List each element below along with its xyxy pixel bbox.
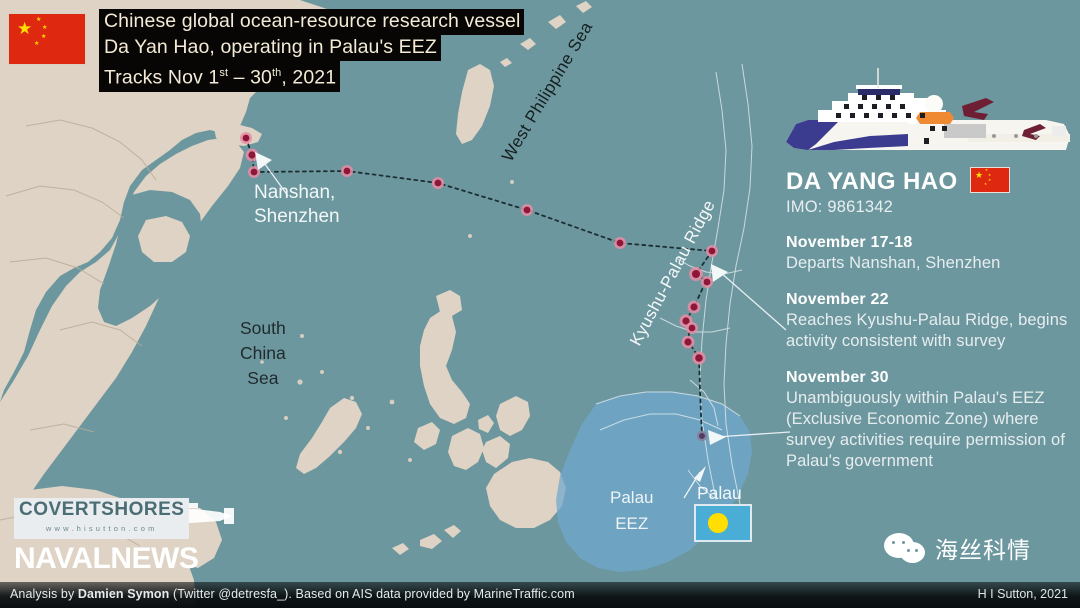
event-description: Unambiguously within Palau's EEZ (Exclus… [786, 388, 1076, 472]
event-nov-30: November 30 Unambiguously within Palau's… [786, 369, 1076, 472]
vessel-name-row: DA YANG HAO ★ ★ ★ ★ ★ [786, 168, 1076, 196]
vessel-radome [925, 95, 943, 113]
event-date: November 30 [786, 369, 1076, 387]
title-line-3: Tracks Nov 1st – 30th, 2021 [99, 61, 340, 92]
map-label-nanshan: Nanshan, Shenzhen [254, 181, 340, 229]
title-line-1: Chinese global ocean-resource research v… [99, 9, 524, 35]
title-sup-th: th [272, 67, 281, 79]
vessel-bridge [858, 88, 900, 95]
vessel-info-panel: DA YANG HAO ★ ★ ★ ★ ★ IMO: 9861342 Novem… [786, 168, 1076, 472]
china-flag-title: ★ ★ ★ ★ ★ [8, 13, 86, 65]
title-line-3-pre: Tracks Nov 1 [104, 67, 219, 89]
event-description: Departs Nanshan, Shenzhen [786, 253, 1076, 274]
sutton-credit: H I Sutton, 2021 [978, 587, 1068, 601]
credit-suffix: (Twitter @detresfa_). Based on AIS data … [169, 587, 574, 601]
map-label-palau-eez: Palau EEZ [610, 485, 653, 537]
palau-flag-disc [708, 513, 728, 533]
palau-flag [694, 504, 752, 542]
title-block: Chinese global ocean-resource research v… [99, 9, 524, 92]
credit-author: Damien Symon [78, 587, 170, 601]
event-nov-22: November 22 Reaches Kyushu-Palau Ridge, … [786, 291, 1076, 352]
covertshores-wordmark: COVERTSHORES [19, 499, 184, 520]
vessel-imo: IMO: 9861342 [786, 198, 1076, 217]
title-sup-st: st [219, 67, 228, 79]
footer-bar: Analysis by Damien Symon (Twitter @detre… [0, 582, 1080, 608]
title-line-3-mid: – 30 [228, 67, 272, 89]
vessel-hangar [944, 124, 986, 138]
vessel-bridge-top [856, 85, 902, 89]
vessel-name: DA YANG HAO [786, 168, 958, 196]
event-date: November 17-18 [786, 234, 1076, 252]
infographic-root: ★ ★ ★ ★ ★ Chinese global ocean-resource … [0, 0, 1080, 608]
title-line-3-post: , 2021 [281, 67, 336, 89]
covertshores-url: www.hisutton.com [19, 518, 184, 539]
wechat-account-name: 海丝科情 [935, 531, 1031, 565]
covertshores-logo: COVERTSHORES www.hisutton.com [14, 498, 189, 539]
credit-prefix: Analysis by [10, 587, 78, 601]
event-description: Reaches Kyushu-Palau Ridge, begins activ… [786, 310, 1076, 352]
vessel-stern-box [1052, 126, 1066, 136]
title-line-2: Da Yan Hao, operating in Palau's EEZ [99, 35, 441, 61]
wechat-watermark: 海丝科情 [884, 531, 1031, 565]
logo-block: COVERTSHORES www.hisutton.com NAVALNEWS [14, 498, 198, 575]
wechat-bubble-small [900, 542, 925, 563]
wechat-icon [884, 533, 930, 563]
map-label-palau: Palau [697, 483, 742, 504]
analysis-credit: Analysis by Damien Symon (Twitter @detre… [10, 587, 575, 601]
event-nov-17-18: November 17-18 Departs Nanshan, Shenzhen [786, 234, 1076, 274]
china-flag-vessel: ★ ★ ★ ★ ★ [970, 167, 1010, 193]
event-date: November 22 [786, 291, 1076, 309]
map-label-south-china-sea: South China Sea [240, 316, 286, 391]
navalnews-logo: NAVALNEWS [14, 543, 198, 575]
